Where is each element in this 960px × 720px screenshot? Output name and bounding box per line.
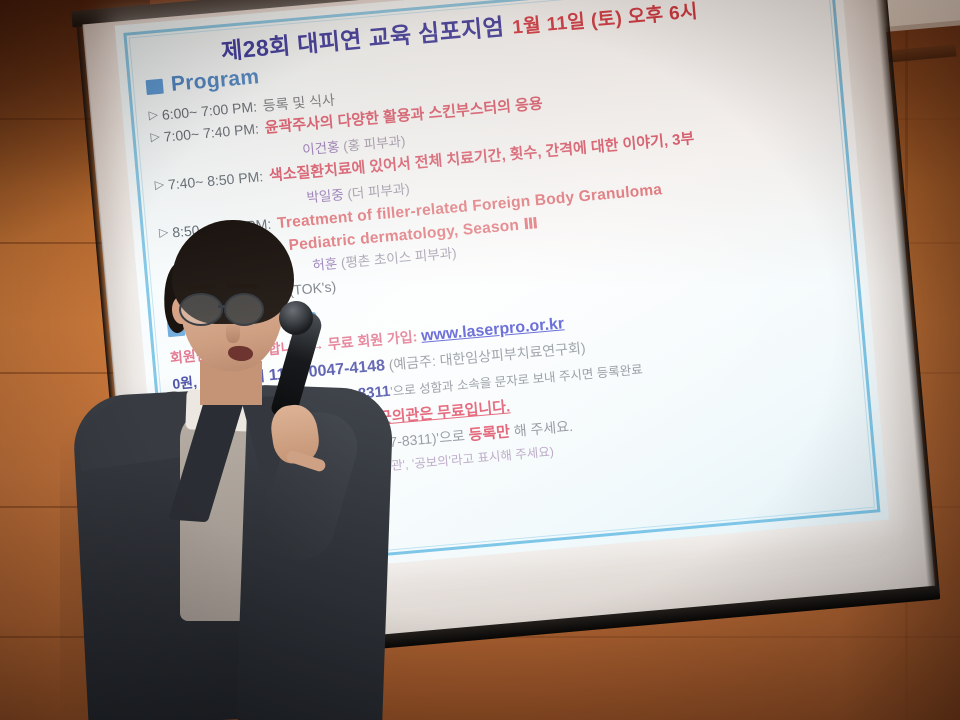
presenter-figure [60,215,390,720]
speaker-affiliation: (더 피부과) [347,181,410,201]
speaker-name: 박일중 [306,187,344,205]
reg-line-suffix: 해 주세요. [513,418,573,439]
speaker-affiliation: (홍 피부과) [343,134,406,154]
nose [226,321,240,343]
square-bullet-icon [146,78,164,94]
program-row-time: 7:40~ 8:50 PM: [167,166,264,195]
speaker-name: 이건홍 [302,139,340,157]
reg-line-emphasis: 등록만 [468,423,511,444]
eyeglasses-bridge [218,305,226,308]
triangle-bullet-icon: ▷ [154,175,165,195]
triangle-bullet-icon: ▷ [148,105,159,125]
eyeglasses-lens-left [179,293,223,326]
photo-scene: 제28회 대피연 교육 심포지엄1월 11일 (토) 오후 6시 Program… [0,0,960,720]
triangle-bullet-icon: ▷ [150,127,161,147]
